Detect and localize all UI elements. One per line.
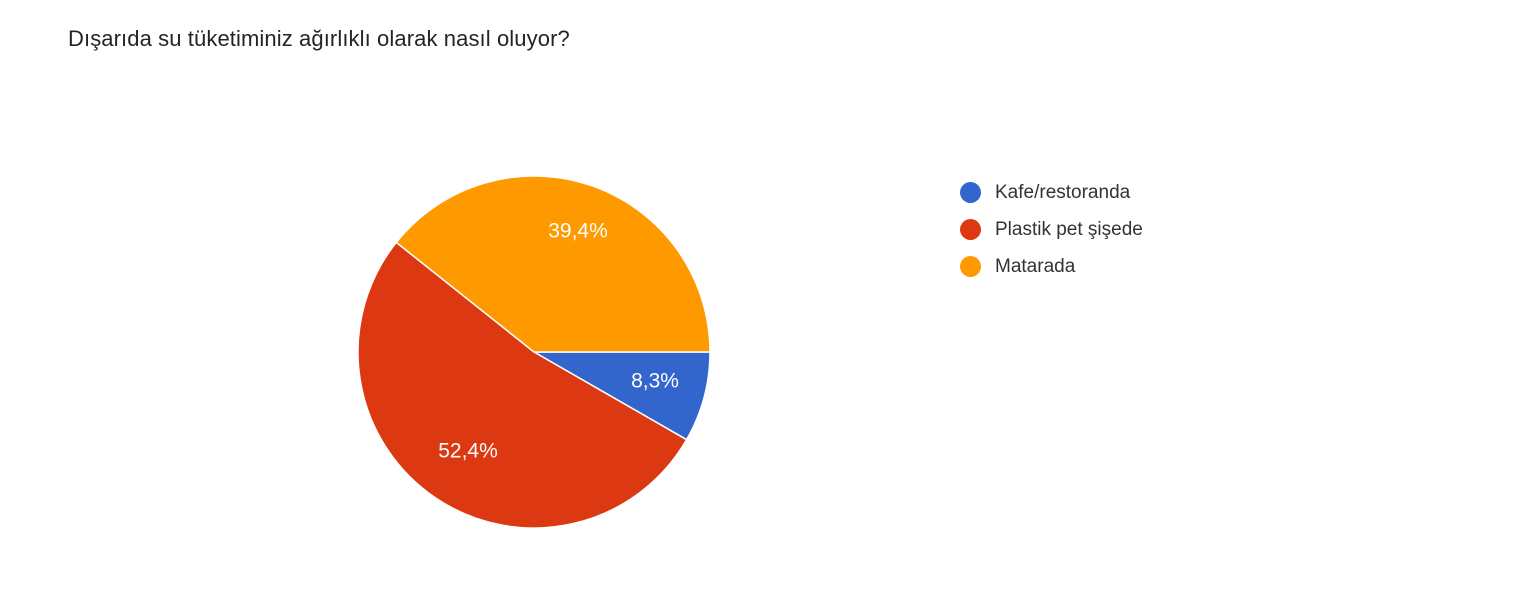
chart-legend: Kafe/restoranda Plastik pet şişede Matar… (960, 174, 1290, 285)
legend-swatch-icon (960, 219, 981, 240)
legend-item-kafe-restoranda[interactable]: Kafe/restoranda (960, 174, 1290, 211)
legend-item-plastik-pet-sisede[interactable]: Plastik pet şişede (960, 211, 1290, 248)
pie-chart-svg: 8,3%52,4%39,4% (330, 148, 740, 558)
pie-slice-label: 8,3% (631, 370, 679, 393)
legend-item-label: Plastik pet şişede (995, 219, 1143, 240)
pie-chart-figure: Dışarıda su tüketiminiz ağırlıklı olarak… (0, 0, 1520, 600)
legend-item-matarada[interactable]: Matarada (960, 248, 1290, 285)
legend-item-label: Matarada (995, 256, 1075, 277)
pie-slice-label: 39,4% (548, 220, 608, 243)
pie-slice-group (358, 176, 710, 528)
pie-slice-label: 52,4% (438, 440, 498, 463)
pie-chart-plot-area: 8,3%52,4%39,4% (330, 148, 740, 558)
legend-item-label: Kafe/restoranda (995, 182, 1130, 203)
legend-swatch-icon (960, 256, 981, 277)
chart-title: Dışarıda su tüketiminiz ağırlıklı olarak… (68, 26, 570, 52)
legend-swatch-icon (960, 182, 981, 203)
